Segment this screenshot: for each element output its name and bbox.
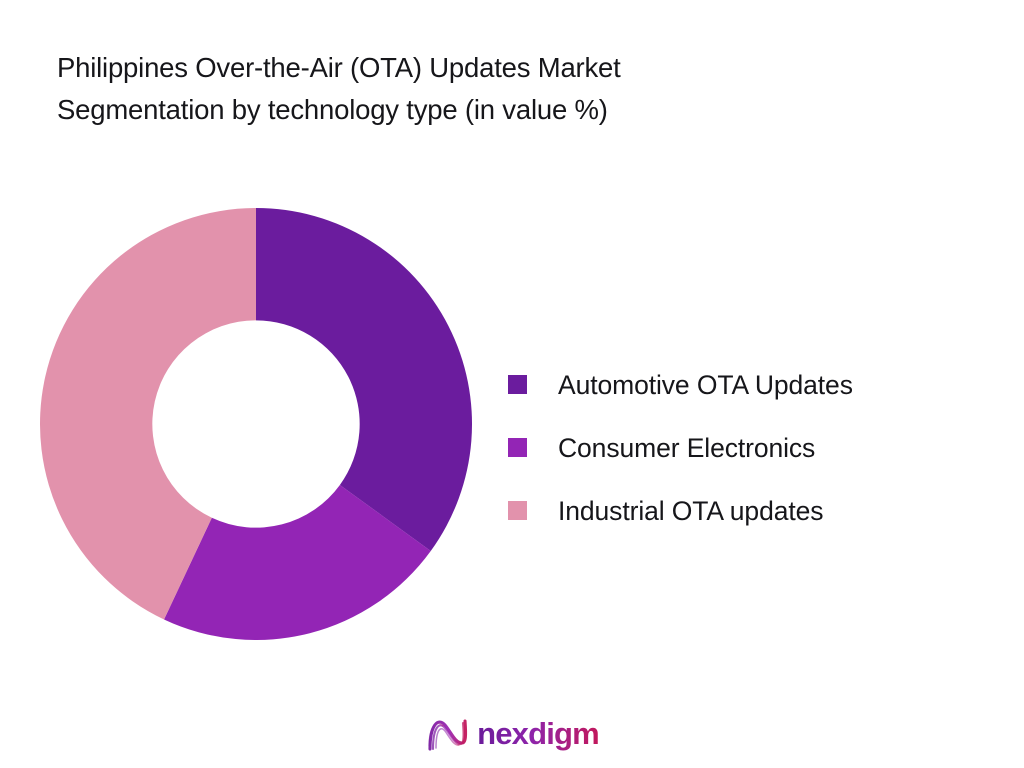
legend-label-consumer-electronics: Consumer Electronics (558, 433, 815, 463)
legend-item-automotive-ota-updates[interactable]: Automotive OTA Updates (508, 353, 948, 416)
nexdigm-wordmark: nexdigm (477, 717, 599, 751)
donut-slice[interactable] (256, 208, 472, 551)
legend-label-automotive-ota-updates: Automotive OTA Updates (558, 370, 853, 400)
chart-title: Philippines Over-the-Air (OTA) Updates M… (57, 47, 877, 131)
footer-brand-logo: nexdigm (0, 713, 1024, 755)
legend-item-consumer-electronics[interactable]: Consumer Electronics (508, 416, 948, 479)
legend-label-industrial-ota-updates: Industrial OTA updates (558, 496, 823, 526)
legend-swatch-consumer-electronics (508, 438, 527, 457)
donut-chart-svg (40, 208, 472, 640)
legend-swatch-automotive-ota-updates (508, 375, 527, 394)
donut-chart (40, 208, 472, 640)
nexdigm-n-mark-icon (425, 713, 469, 755)
chart-legend: Automotive OTA Updates Consumer Electron… (508, 353, 948, 542)
legend-item-industrial-ota-updates[interactable]: Industrial OTA updates (508, 479, 948, 542)
donut-slice-group (40, 208, 472, 640)
legend-swatch-industrial-ota-updates (508, 501, 527, 520)
